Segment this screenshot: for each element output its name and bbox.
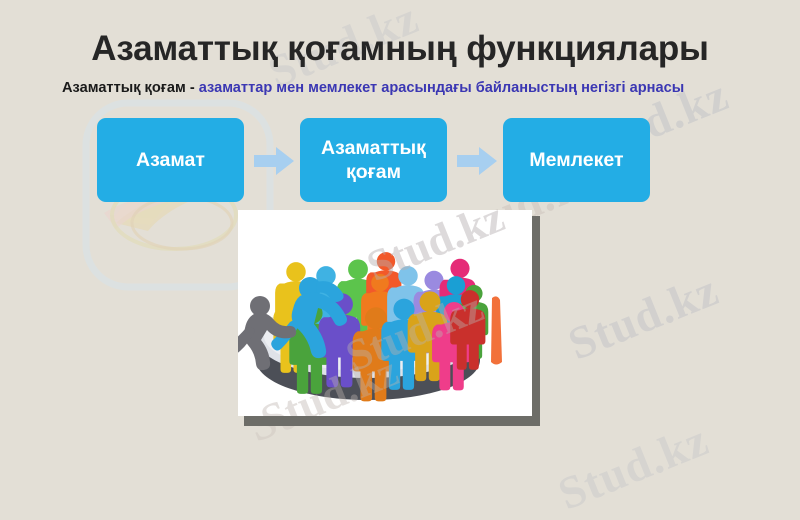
people-on-platform-graphic [238,210,532,416]
page-title: Азаматтық қоғамның функциялары [0,27,800,71]
illustration: Stud.kz Stud.kz Stud.kz [238,210,540,426]
arrow-right-icon [254,147,294,175]
watermark-text: Stud.kz [551,413,716,520]
flow-diagram: Азамат Азаматтық қоғам Мемлекет [97,118,653,202]
flow-box-state[interactable]: Мемлекет [503,118,650,202]
arrow-right-icon [457,147,497,175]
subtitle-text: Азаматтық қоғам - азаматтар мен мемлекет… [62,77,752,99]
subtitle-lead: Азаматтық қоғам - [62,80,199,96]
flow-box-civil-society[interactable]: Азаматтық қоғам [300,118,447,202]
flow-box-label: Азамат [136,148,205,172]
watermark-text: Stud.kz [561,263,726,371]
flow-box-label: Мемлекет [529,148,623,172]
flow-box-citizen[interactable]: Азамат [97,118,244,202]
illustration-canvas: Stud.kz Stud.kz Stud.kz [238,210,532,416]
flow-box-label: Азаматтық қоғам [306,136,441,184]
subtitle-accent: азаматтар мен мемлекет арасындағы байлан… [199,80,684,96]
